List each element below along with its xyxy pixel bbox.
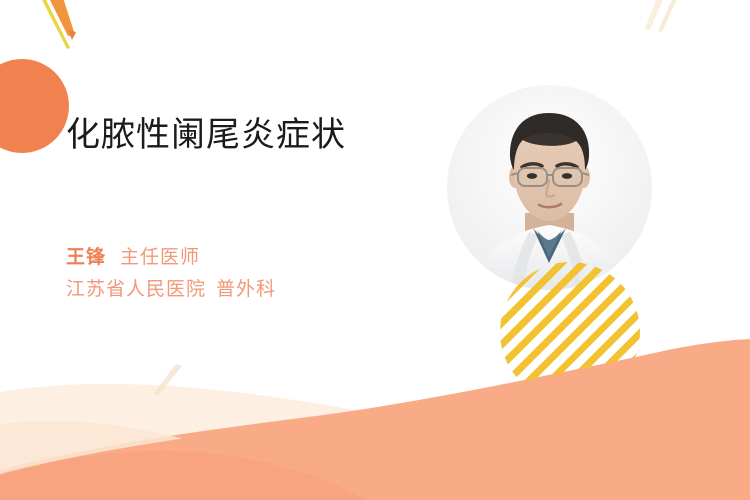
striped-circle-decoration (500, 262, 640, 402)
diagonal-stripe-pattern (500, 262, 640, 402)
wave-front-salmon (0, 339, 750, 500)
stripe-faint-b (658, 0, 682, 32)
doctor-portrait-illustration (447, 85, 652, 290)
stripe-orange-thick (41, 0, 75, 36)
mid-left-faint-stripe (153, 364, 182, 396)
wave-cream-lobe (0, 421, 286, 486)
byline-row-hospital: 江苏省人民医院普外科 (66, 274, 446, 306)
doctor-article-cover-card: 化脓性阑尾炎症状 王锋主任医师 江苏省人民医院普外科 (0, 0, 750, 500)
wave-cream-band (0, 384, 750, 500)
hospital-name: 江苏省人民医院 (66, 279, 206, 300)
top-right-stripes (645, 0, 682, 32)
stripe-orange-tip (68, 30, 76, 40)
top-left-stripes (33, 0, 76, 49)
wave-front-salmon-lobe (0, 451, 366, 500)
wave-salmon-band (0, 340, 750, 500)
avatar (447, 85, 652, 290)
text-content: 化脓性阑尾炎症状 王锋主任医师 江苏省人民医院普外科 (66, 112, 446, 306)
doctor-title: 主任医师 (120, 247, 200, 268)
page-title: 化脓性阑尾炎症状 (66, 112, 446, 158)
stripe-yellow-thin (33, 0, 70, 49)
byline: 王锋主任医师 江苏省人民医院普外科 (66, 242, 446, 306)
stripe-faint-a (645, 0, 668, 30)
doctor-name: 王锋 (66, 247, 106, 268)
wave-salmon-lobe (0, 448, 372, 500)
byline-row-doctor: 王锋主任医师 (66, 242, 446, 274)
department-name: 普外科 (216, 279, 276, 300)
orange-circle (0, 59, 69, 153)
